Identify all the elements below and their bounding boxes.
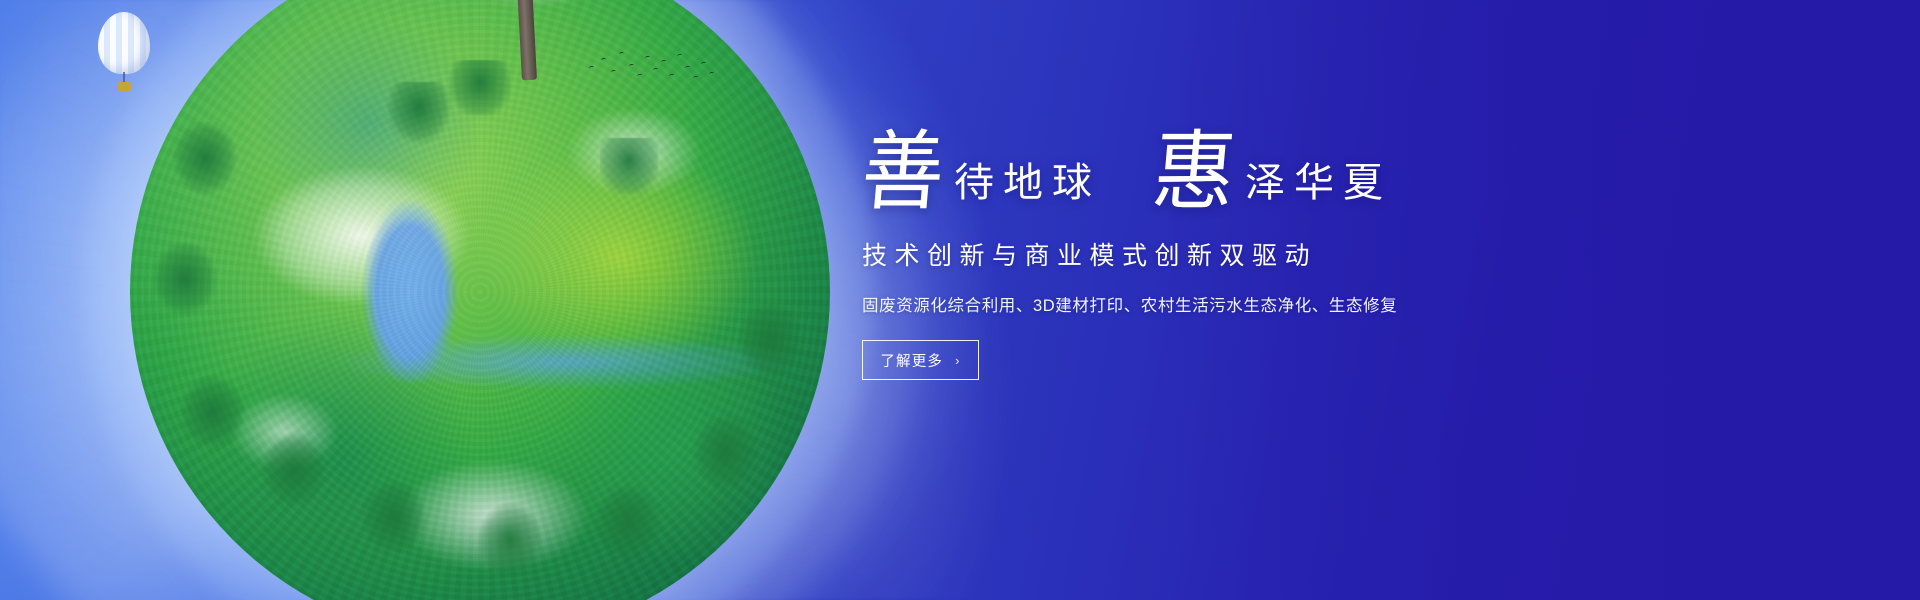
- balloon-basket: [118, 82, 131, 91]
- hero-copy: 善 待地球 惠 泽华夏 技术创新与商业模式创新双驱动 固废资源化综合利用、3D建…: [862, 118, 1662, 380]
- headline-brush-char-1: 善: [859, 132, 952, 212]
- rim-tree-icon: [170, 122, 240, 212]
- headline-brush-char-2: 惠: [1150, 132, 1243, 212]
- rim-tree-icon: [148, 242, 222, 334]
- rim-tree-icon: [386, 82, 452, 144]
- learn-more-button[interactable]: 了解更多 ›: [862, 340, 979, 380]
- hero-banner: 善 待地球 惠 泽华夏 技术创新与商业模式创新双驱动 固废资源化综合利用、3D建…: [0, 0, 1920, 600]
- bird-flock-icon: [585, 40, 725, 90]
- rim-tree-icon: [730, 302, 810, 396]
- page-title: 善 待地球 惠 泽华夏: [862, 118, 1662, 210]
- rim-tree-icon: [600, 138, 658, 194]
- rim-tree-icon: [582, 482, 674, 582]
- chevron-right-icon: ›: [955, 354, 961, 367]
- tiny-planet-globe: [130, 0, 830, 600]
- rim-tree-icon: [460, 498, 560, 600]
- balloon-envelope: [98, 12, 150, 74]
- hero-description: 固废资源化综合利用、3D建材打印、农村生活污水生态净化、生态修复: [862, 292, 1662, 316]
- headline-rest-1: 待地球: [948, 163, 1101, 210]
- hero-subtitle: 技术创新与商业模式创新双驱动: [862, 236, 1662, 272]
- globe-surface: [130, 0, 830, 600]
- rim-tree-icon: [682, 412, 770, 512]
- rim-tree-icon: [248, 428, 340, 532]
- headline-rest-2: 泽华夏: [1239, 163, 1392, 210]
- hot-air-balloon-icon: [98, 12, 154, 98]
- rim-tree-icon: [170, 372, 256, 472]
- rim-tree-icon: [346, 474, 442, 582]
- learn-more-label: 了解更多: [880, 350, 943, 371]
